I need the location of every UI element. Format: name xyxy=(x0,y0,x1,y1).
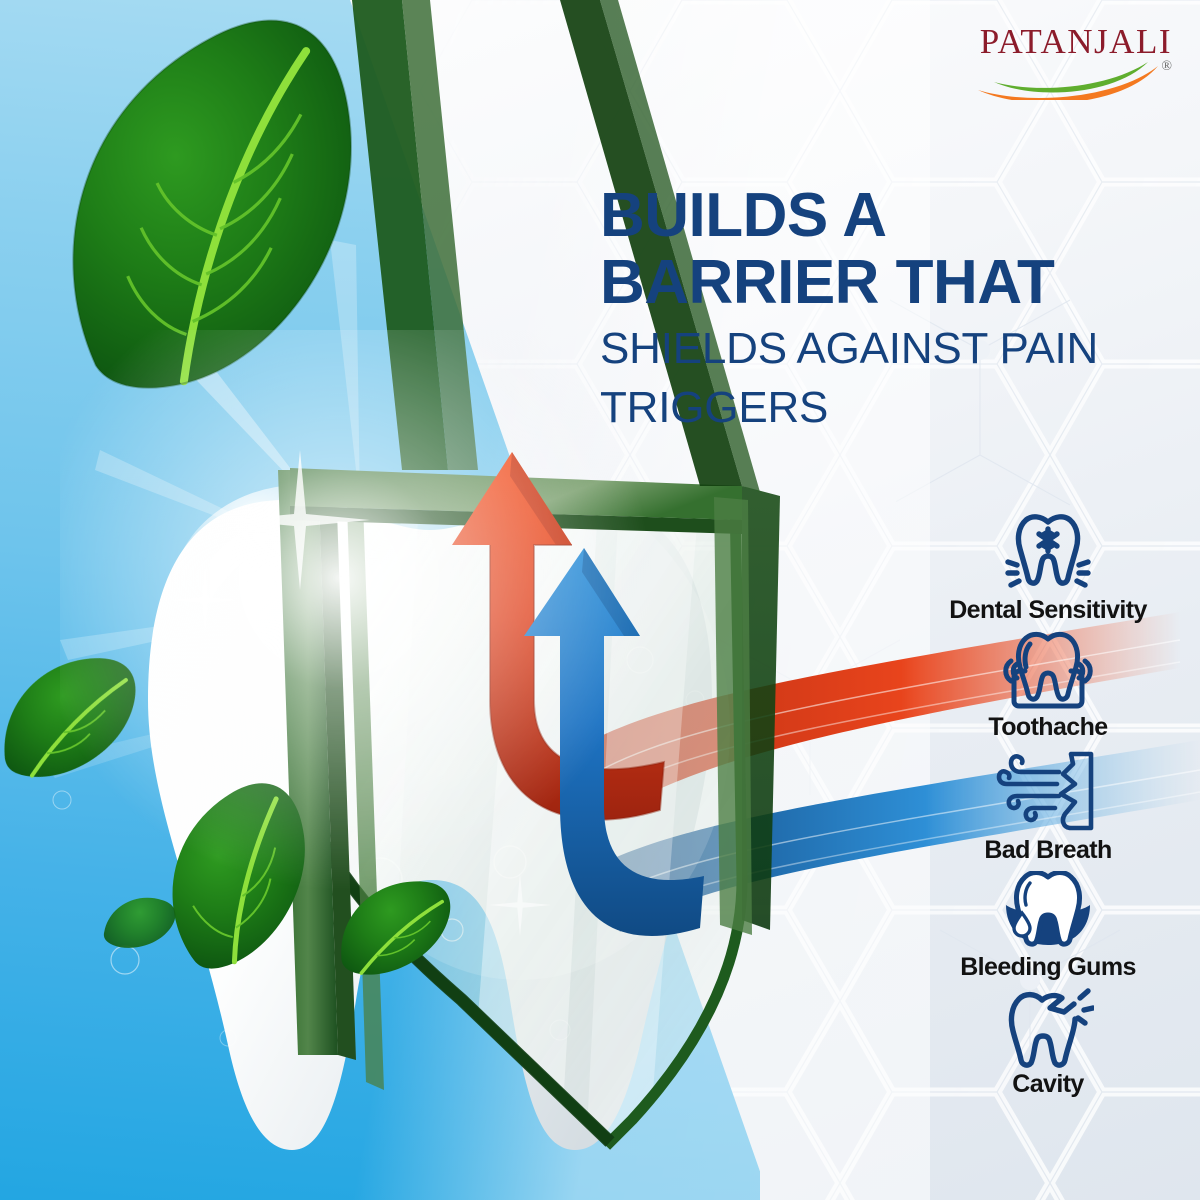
tooth-in-gum-pain-icon xyxy=(1003,631,1093,711)
feature-label: Cavity xyxy=(1012,1070,1083,1099)
subhead-line-2: TRIGGERS xyxy=(600,383,1180,432)
feature-bleeding-gums: Bleeding Gums xyxy=(914,871,1182,982)
headline-line-1: BUILDS A xyxy=(600,186,1180,247)
tooth-chipped-icon xyxy=(1002,988,1094,1068)
subhead-line-1: SHIELDS AGAINST PAIN xyxy=(600,324,1180,373)
tooth-snowflake-icon xyxy=(1005,512,1091,594)
feature-label: Dental Sensitivity xyxy=(949,596,1147,625)
headline-line-2: BARRIER THAT xyxy=(600,253,1180,314)
feature-label: Bleeding Gums xyxy=(960,953,1136,982)
feature-label: Bad Breath xyxy=(984,836,1111,865)
problem-list: Dental Sensitivity Toothache xyxy=(914,512,1182,1099)
feature-toothache: Toothache xyxy=(914,631,1182,742)
brand-name: PATANJALI xyxy=(980,24,1172,59)
mouth-wind-icon xyxy=(993,748,1103,834)
feature-dental-sensitivity: Dental Sensitivity xyxy=(914,512,1182,625)
feature-label: Toothache xyxy=(988,713,1107,742)
headline-block: BUILDS A BARRIER THAT SHIELDS AGAINST PA… xyxy=(600,186,1180,432)
advertisement-canvas: PATANJALI® BUILDS A BARRIER THAT SHIELDS… xyxy=(0,0,1200,1200)
feature-cavity: Cavity xyxy=(914,988,1182,1099)
tooth-gum-droplet-icon xyxy=(1000,871,1096,951)
logo-swoosh-icon xyxy=(972,60,1172,100)
brand-logo[interactable]: PATANJALI® xyxy=(972,24,1172,98)
feature-bad-breath: Bad Breath xyxy=(914,748,1182,865)
